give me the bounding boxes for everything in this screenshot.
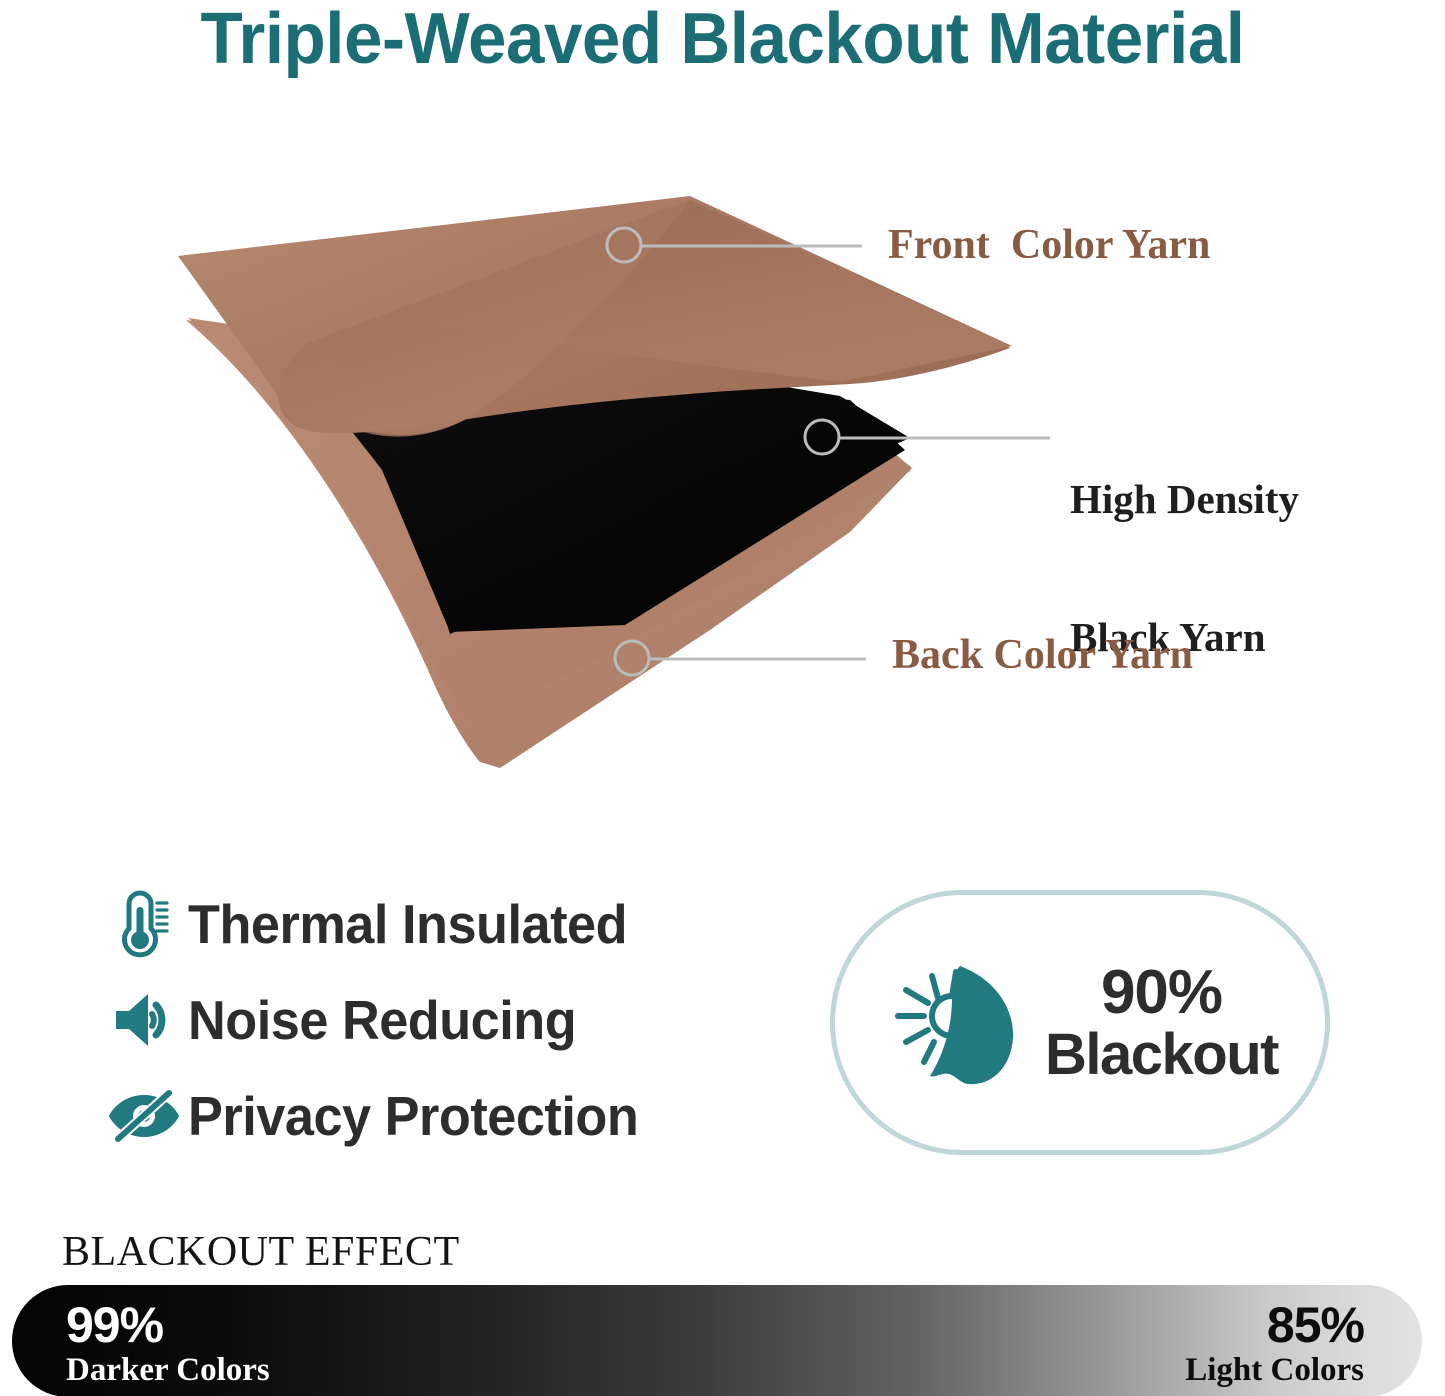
blackout-badge-text: 90% Blackout bbox=[1045, 961, 1278, 1083]
light-colors-percent: 85% bbox=[1185, 1299, 1364, 1352]
feature-noise-reducing: Noise Reducing bbox=[100, 972, 760, 1068]
label-back-color-yarn: Back Color Yarn bbox=[892, 632, 1193, 679]
label-front-color-yarn: Front Color Yarn bbox=[888, 222, 1210, 269]
light-colors-label: Light Colors bbox=[1185, 1352, 1364, 1388]
blackout-effect-left-stat: 99% Darker Colors bbox=[66, 1299, 270, 1388]
thermometer-icon bbox=[100, 887, 188, 961]
feature-label-noise-reducing: Noise Reducing bbox=[188, 988, 576, 1052]
darker-colors-percent: 99% bbox=[66, 1299, 270, 1352]
blackout-effect-right-stat: 85% Light Colors bbox=[1185, 1299, 1364, 1388]
page-title: Triple-Weaved Blackout Material bbox=[29, 2, 1416, 78]
blackout-word: Blackout bbox=[1045, 1025, 1278, 1084]
eye-slash-icon bbox=[100, 1089, 188, 1143]
blackout-percent: 90% bbox=[1045, 961, 1278, 1024]
sun-blocked-curtain-icon bbox=[882, 954, 1037, 1092]
feature-list: Thermal Insulated Noise Reducing bbox=[100, 876, 760, 1164]
darker-colors-label: Darker Colors bbox=[66, 1352, 270, 1388]
blackout-effect-gradient-bar: 99% Darker Colors 85% Light Colors bbox=[12, 1285, 1422, 1396]
speaker-volume-icon bbox=[100, 989, 188, 1051]
blackout-badge: 90% Blackout bbox=[830, 890, 1330, 1155]
blackout-effect-title: BLACKOUT EFFECT bbox=[62, 1228, 460, 1276]
feature-thermal-insulated: Thermal Insulated bbox=[100, 876, 760, 972]
feature-label-privacy-protection: Privacy Protection bbox=[188, 1084, 638, 1148]
feature-label-thermal-insulated: Thermal Insulated bbox=[188, 892, 627, 956]
label-high-density-black-yarn: High Density Black Yarn bbox=[1070, 385, 1299, 752]
infographic-page: Triple-Weaved Blackout Material bbox=[0, 0, 1445, 1396]
feature-privacy-protection: Privacy Protection bbox=[100, 1068, 760, 1164]
label-high-density-line1: High Density bbox=[1070, 477, 1299, 523]
